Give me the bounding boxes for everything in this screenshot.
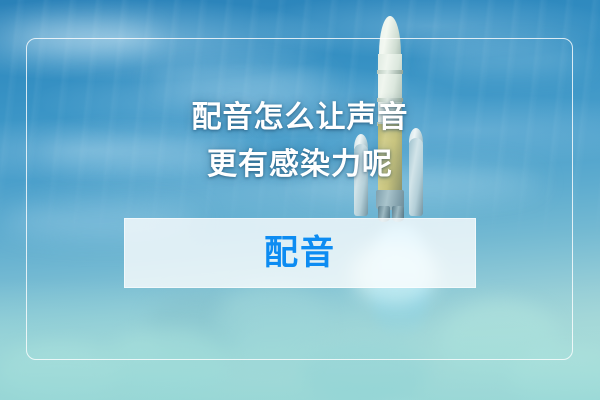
cta-button-label: 配音: [264, 236, 336, 270]
rocket-band: [377, 70, 403, 74]
headline-line-1: 配音怎么让声音: [0, 94, 600, 141]
headline-line-2: 更有感染力呢: [0, 141, 600, 188]
cloud-blob: [150, 70, 330, 92]
headline-text: 配音怎么让声音更有感染力呢: [0, 94, 600, 188]
poster-canvas: 配音怎么让声音更有感染力呢 配音: [0, 0, 600, 400]
cloud-blob: [10, 24, 160, 50]
cta-button[interactable]: 配音: [124, 218, 476, 288]
